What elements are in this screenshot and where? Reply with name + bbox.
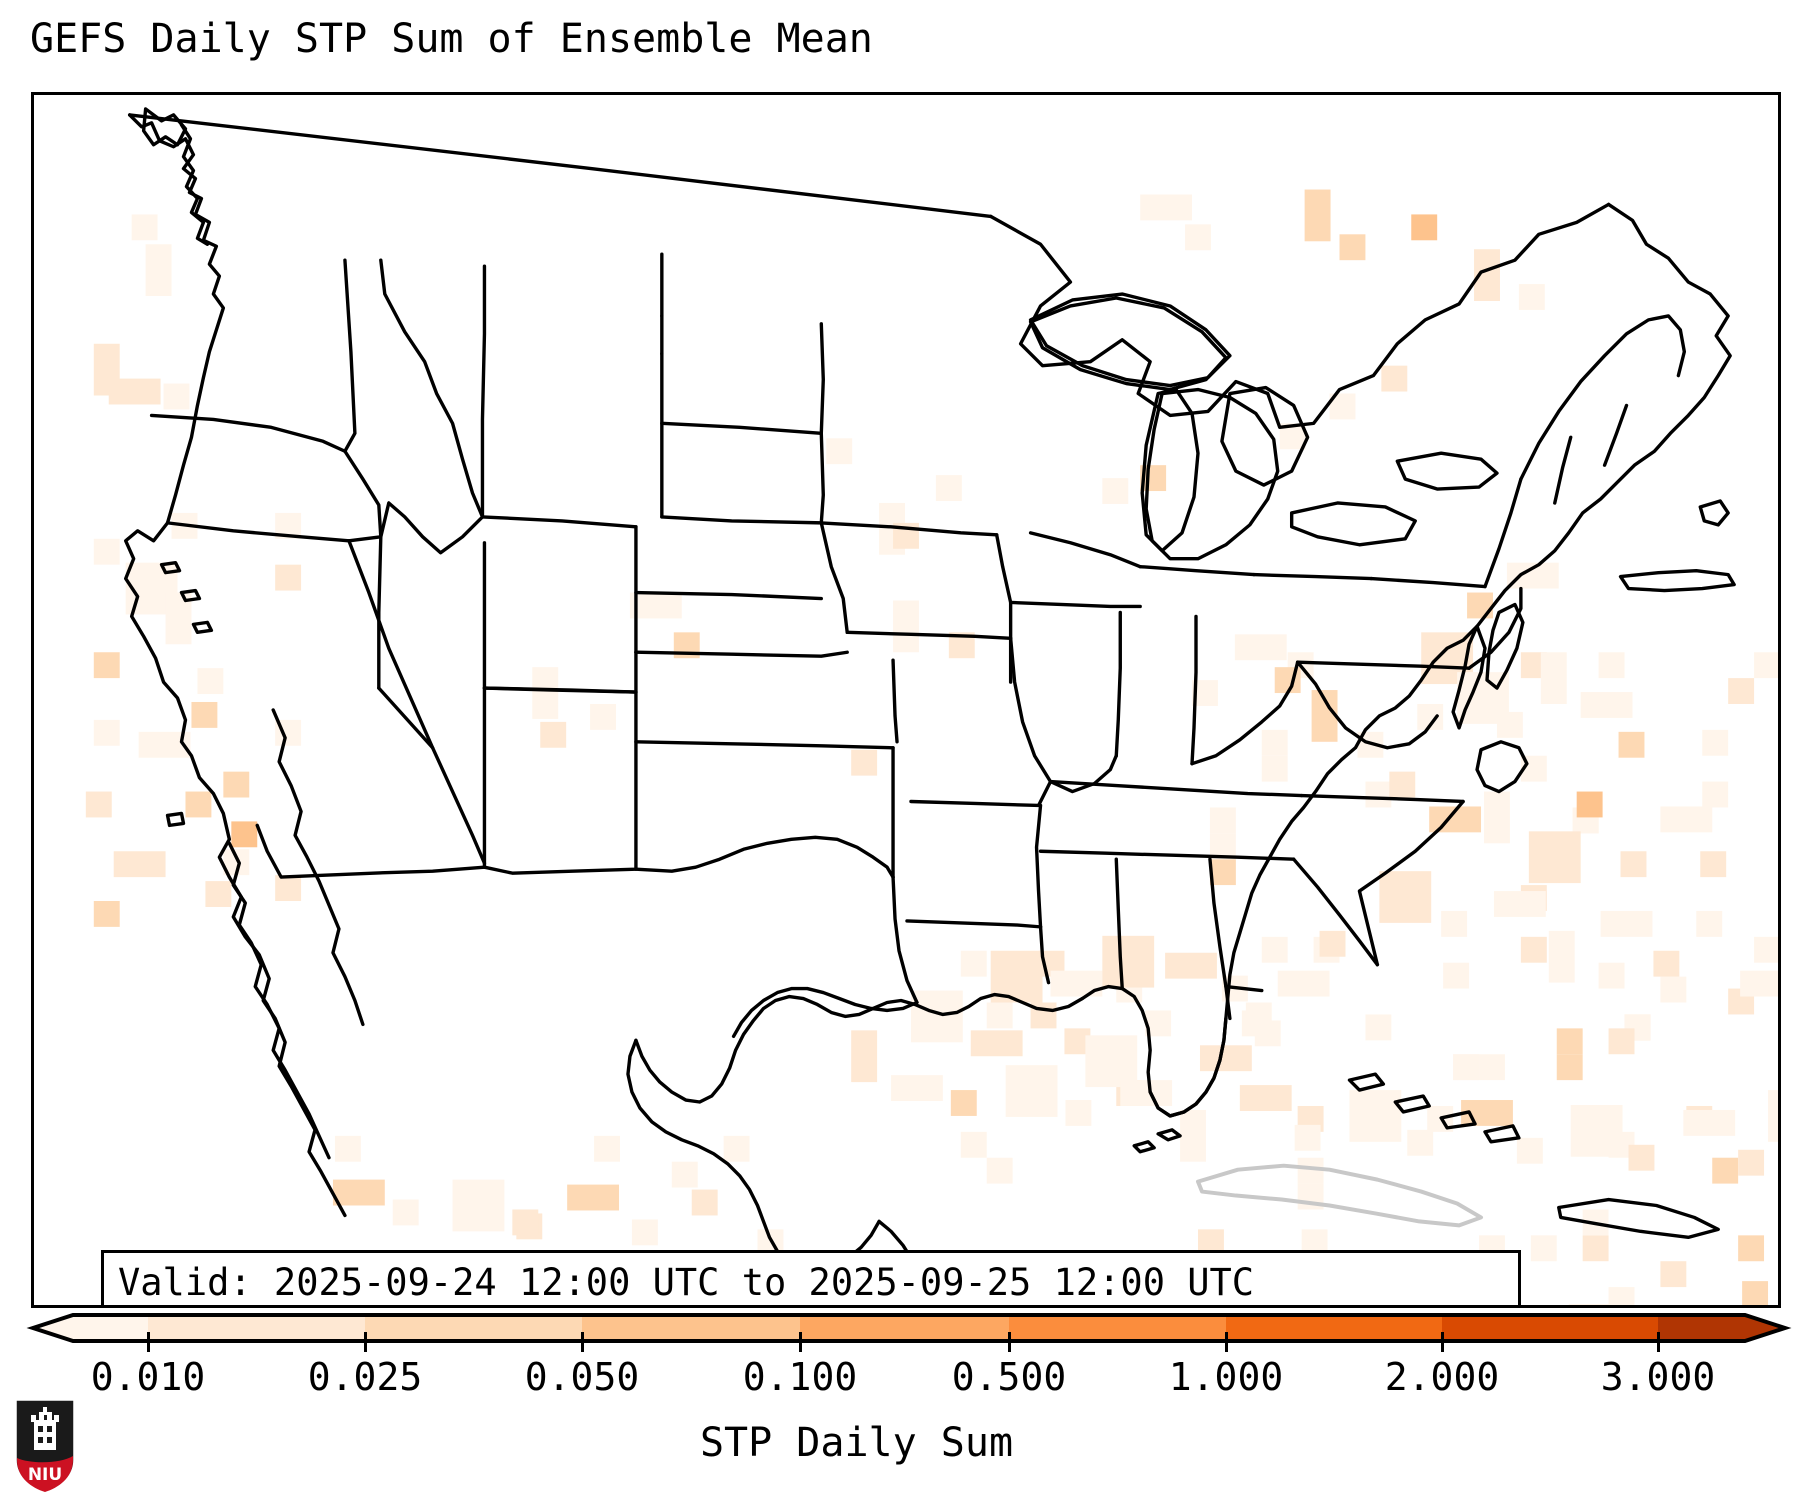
border-canada-west <box>130 115 991 216</box>
coastline-gulf-california <box>273 710 363 1024</box>
border-ms-al <box>1116 859 1122 988</box>
border-mo-ar <box>911 782 1051 806</box>
map-panel[interactable]: Valid: 2025-09-24 12:00 UTC to 2025-09-2… <box>31 92 1781 1308</box>
border-pa-ny <box>1371 579 1485 587</box>
border-az-ca-mex <box>257 825 484 877</box>
border-pa-md-wv <box>1298 662 1469 668</box>
coastline-vancouver <box>144 109 186 145</box>
border-ne-ia <box>821 523 847 632</box>
border-wa-or <box>152 415 345 451</box>
border-canada-great-lakes <box>991 204 1609 427</box>
border-oh-ky <box>1192 662 1298 763</box>
colorbar-tick-label: 1.000 <box>1169 1355 1283 1399</box>
border-wi-il <box>1011 602 1141 606</box>
border-mn-ia <box>821 523 996 535</box>
niu-logo: NIU <box>14 1398 76 1494</box>
logo-text: NIU <box>28 1465 62 1485</box>
border-wy-ne <box>636 593 821 599</box>
border-ny-vt-nh <box>1485 479 1521 586</box>
island-cuba <box>1198 1166 1481 1226</box>
colorbar-tick <box>1225 1332 1228 1352</box>
border-al-ga <box>1210 859 1230 1018</box>
island-channel-1 <box>162 563 180 573</box>
border-ar-la <box>907 921 1041 927</box>
border-nm-tx <box>484 692 635 873</box>
border-sd-mn <box>821 433 823 523</box>
island-hispaniola <box>1559 1200 1718 1238</box>
border-il-in <box>1116 612 1120 755</box>
border-tn-ms-al-ga <box>1041 851 1294 859</box>
coastline-pacific <box>126 115 345 1216</box>
border-ky-tn <box>1051 782 1302 796</box>
florida-keys <box>1158 1130 1180 1140</box>
border-mt-wy <box>482 266 484 517</box>
island-guadalupe <box>168 813 184 825</box>
coastline-atlantic <box>1082 204 1730 1115</box>
colorbar-tick-label: 0.025 <box>308 1355 422 1399</box>
forecast-info-box: Valid: 2025-09-24 12:00 UTC to 2025-09-2… <box>101 1250 1521 1308</box>
border-ok-tx <box>636 837 893 877</box>
outer-banks <box>1477 742 1527 792</box>
border-sd-ne <box>662 517 821 523</box>
colorbar-tick-label: 2.000 <box>1385 1355 1499 1399</box>
colorbar-tick <box>1008 1332 1011 1352</box>
border-or-id <box>345 451 381 541</box>
border-wv-va <box>1298 662 1438 748</box>
colorbar-tick <box>364 1332 367 1352</box>
island-bahamas-2 <box>1395 1096 1429 1112</box>
island-long-island <box>1621 571 1735 591</box>
border-va-nc <box>1302 796 1463 802</box>
border-wa-id <box>345 260 355 451</box>
border-nh-me <box>1605 405 1627 465</box>
geography-layer <box>34 95 1778 1305</box>
colorbar-tick-label: 0.010 <box>91 1355 205 1399</box>
lake-ontario <box>1397 453 1497 489</box>
border-ut-nv <box>379 537 381 688</box>
border-tx-la <box>893 877 917 1002</box>
border-nd-mn <box>821 324 823 433</box>
border-ks-ok <box>636 742 893 748</box>
cape-cod <box>1700 501 1728 525</box>
border-ia-wi-il <box>997 535 1011 638</box>
border-ks-mo <box>893 660 897 742</box>
colorbar-tick-label: 0.500 <box>952 1355 1066 1399</box>
page-title: GEFS Daily STP Sum of Ensemble Mean <box>30 16 873 62</box>
colorbar-title-text: STP Daily Sum <box>700 1420 1013 1466</box>
island-bahamas-3 <box>1441 1112 1475 1128</box>
border-il-mo-ky <box>1011 638 1117 791</box>
border-in-oh <box>1192 616 1196 763</box>
colorbar-tick <box>1657 1332 1660 1352</box>
colorbar-tick-label: 3.000 <box>1601 1355 1715 1399</box>
colorbar-tick <box>1441 1332 1444 1352</box>
island-bahamas-1 <box>1349 1074 1383 1090</box>
border-ia-mo <box>847 632 1010 638</box>
border-wi-mi <box>1031 533 1141 567</box>
coastline-mexico-east <box>628 1040 879 1269</box>
border-nd-sd <box>662 423 821 433</box>
florida-keys-2 <box>1134 1142 1154 1152</box>
border-la-ms-coast <box>1041 927 1049 983</box>
island-channel-2 <box>181 591 199 601</box>
coastline-baja <box>229 843 329 1157</box>
island-bahamas-4 <box>1485 1126 1519 1142</box>
maine-border <box>1521 316 1684 479</box>
colorbar-title: STP Daily Sum <box>0 1420 1803 1466</box>
colorbar-tick-label: 0.100 <box>743 1355 857 1399</box>
border-nv-az <box>379 688 433 748</box>
island-channel-3 <box>193 622 211 632</box>
run-time-line: Run: 2025-09-02 00:00 UTC <box>118 1307 719 1308</box>
border-ar-ms <box>1037 805 1041 926</box>
coastline-gulf <box>636 995 1082 1102</box>
figure-root: GEFS Daily STP Sum of Ensemble Mean <box>0 0 1803 1500</box>
lake-superior <box>1031 294 1230 386</box>
border-vt-nh <box>1555 437 1571 503</box>
border-mi-oh-in <box>1140 567 1254 575</box>
michigan-lp <box>1146 390 1278 559</box>
colorbar-tick <box>799 1332 802 1352</box>
colorbar-tick <box>147 1332 150 1352</box>
border-nm-co <box>484 688 635 692</box>
colorbar-tick-label: 0.050 <box>525 1355 639 1399</box>
border-ga-fl <box>1226 987 1262 991</box>
valid-time-line: Valid: 2025-09-24 12:00 UTC to 2025-09-2… <box>118 1261 1254 1304</box>
colorbar-ticks <box>0 1332 1803 1356</box>
border-oh-wv-pa <box>1254 575 1372 579</box>
border-id-wy <box>482 517 635 527</box>
border-ne-ks <box>636 652 847 656</box>
florida <box>1150 1018 1226 1116</box>
colorbar-tick-labels: 0.0100.0250.0500.1000.5001.0002.0003.000 <box>0 1355 1803 1405</box>
lake-erie <box>1292 503 1416 545</box>
colorbar-tick <box>581 1332 584 1352</box>
border-id-mt <box>381 260 483 553</box>
border-nv-ca <box>349 541 485 863</box>
border-nc-sc <box>1359 801 1463 964</box>
border-or-ca-nv <box>168 523 349 541</box>
